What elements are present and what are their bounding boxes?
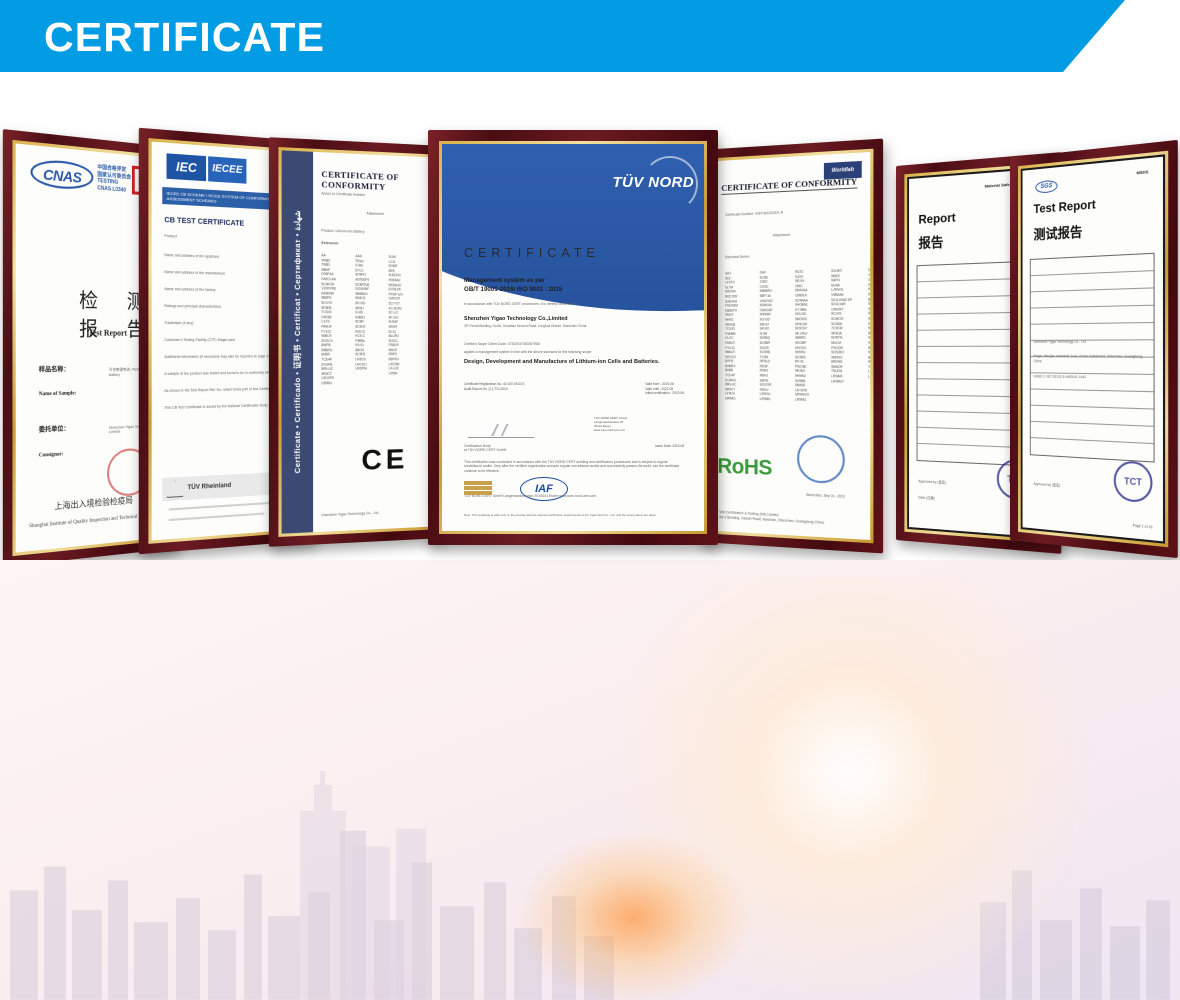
issuer-block: TÜV NORD CERT GmbHLangemarckstrasse 2045… bbox=[594, 416, 684, 432]
company-address: Pingxi, Wenjiao Industrial Zone, Futian … bbox=[1033, 354, 1152, 364]
cert-footer-cn: 上海出入境检验检疫局 bbox=[54, 494, 133, 512]
certificate-paper: Worldlab CERTIFICATE OF CONFORMITY Certi… bbox=[712, 152, 871, 540]
cb-field: Name and address of the factory bbox=[164, 287, 215, 292]
certificate-frame-sgs-report[interactable]: SGS MSDS Test Report 测试报告 bbox=[1010, 140, 1178, 558]
certificate-frame-rohs[interactable]: Worldlab CERTIFICATE OF CONFORMITY Certi… bbox=[700, 139, 883, 554]
certificate-page: CERTIFICATE CNAS 中国合格评定国家认可委员会TESTINGCNA… bbox=[0, 0, 1180, 1000]
report-title-en: Test Report bbox=[1033, 197, 1095, 216]
product-label-text: Product: bbox=[321, 229, 334, 233]
page-number: Page 1 of 16 bbox=[1133, 523, 1153, 530]
multilingual-side-band: Certificate • Certificado • 证明书 • Certif… bbox=[282, 150, 313, 533]
certificate-footnote: Note: This certificate is valid only on … bbox=[464, 513, 686, 517]
certification-scope: Design, Development and Manufacture of L… bbox=[464, 358, 686, 366]
product-label: Product bbox=[164, 234, 176, 239]
standard-line-1: Management system as per bbox=[464, 277, 545, 284]
tuv-certificate-title: CERTIFICATE bbox=[464, 246, 600, 260]
ce-mark-icon: CE bbox=[361, 443, 408, 477]
standard-line-2: GB/T 19001-2016/ ISO 9001 : 2015 bbox=[464, 286, 562, 293]
certificate-paper: Certificate • Certificado • 证明书 • Certif… bbox=[282, 150, 433, 533]
frame-gold-trim: SGS MSDS Test Report 测试报告 bbox=[1018, 151, 1168, 548]
client-code-label: Certified Scope Client Code: 47302037080… bbox=[464, 342, 540, 346]
models-label: Electrical Series bbox=[725, 255, 749, 260]
table-row bbox=[1031, 323, 1154, 341]
cert-number-label: Certificate Number: bbox=[725, 212, 754, 217]
report-title-cn: 测试报告 bbox=[1033, 221, 1082, 244]
certification-seal bbox=[797, 435, 845, 484]
certificate-paper: SGS MSDS Test Report 测试报告 bbox=[1021, 154, 1165, 543]
rohs-mark-icon: RoHS bbox=[717, 455, 772, 481]
cert-number-row: Certificate Number: VIST/AD/2019/1-R bbox=[725, 210, 783, 217]
cnas-logo-icon: CNAS bbox=[30, 158, 93, 191]
ce-certificate-title: CERTIFICATE OF CONFORMITY bbox=[321, 169, 432, 194]
cb-field: Customer's Testing Facility (CTF) Stage … bbox=[164, 338, 234, 342]
date-label: Date (日期) bbox=[918, 495, 934, 501]
contacts-line: TÜV NORD CERT GmbH Langemarckstrasse 20 … bbox=[464, 494, 686, 498]
approved-by-label: Approved by (签章) bbox=[1033, 481, 1060, 488]
lens-flare bbox=[519, 833, 749, 1000]
cert-number-label: Annex to Certificate Number bbox=[321, 191, 365, 197]
issuer-logo-text: TÜV Rheinland bbox=[187, 483, 231, 492]
tuv-standard-block: Management system as per GB/T 19001-2016… bbox=[464, 276, 562, 294]
conformity-title: CERTIFICATE OF CONFORMITY bbox=[721, 176, 857, 195]
issue-date: Issue Date: 2019-06 bbox=[655, 444, 684, 448]
frame-gold-trim: TÜV NORD CERTIFICATE Management system a… bbox=[439, 141, 707, 534]
cert-title-en: Test Report bbox=[88, 328, 127, 338]
sgs-logo-icon: SGS bbox=[1035, 180, 1057, 194]
attachment-label: Attachment bbox=[366, 211, 383, 216]
field-label-en-2: Consignor: bbox=[39, 452, 64, 459]
cb-field: Additional information (if necessary may… bbox=[164, 354, 269, 359]
cb-field: A sample of the product was tested and f… bbox=[164, 371, 271, 376]
models-label: Extension: bbox=[321, 241, 339, 246]
validity-note: This certification was conducted in acco… bbox=[464, 460, 686, 473]
validity-dates: Valid from : 2019-06 Valid until : 2022-… bbox=[645, 382, 684, 396]
cert-number-value: VIST/AD/2019/1-R bbox=[755, 210, 783, 215]
model-number-grid: AATR6DTB8DB8MFD05F4AFA5CLAA5C9KO9V10KV9B… bbox=[321, 253, 414, 386]
certificate-gallery: CNAS 中国合格评定国家认可委员会TESTINGCNAS L0340 CMA … bbox=[0, 130, 1180, 560]
registration-numbers: Certificate Registration No. 44 100 1943… bbox=[464, 382, 524, 391]
signature-label: Certification Body at TÜV NORD CERT GmbH bbox=[464, 444, 506, 452]
certificate-frame-tuv-nord[interactable]: TÜV NORD CERTIFICATE Management system a… bbox=[428, 130, 718, 545]
accordance-note: In accordance with TÜV NORD CERT procedu… bbox=[464, 302, 577, 306]
certificate-paper: TÜV NORD CERTIFICATE Management system a… bbox=[442, 144, 704, 531]
product-value: Lithium-ion Battery bbox=[336, 229, 365, 234]
cert-footer-en: Shanghai Institute of Quality Inspection… bbox=[29, 513, 155, 530]
signature-mark bbox=[468, 424, 534, 438]
cb-field: As shown in the Test Report Ref. No. whi… bbox=[164, 387, 274, 393]
dakks-logo-icon bbox=[464, 481, 492, 501]
frame-gold-trim: Worldlab CERTIFICATE OF CONFORMITY Certi… bbox=[709, 149, 874, 544]
standard-reference: UN38.3 / IEC 62133 & ANSI/UL 1642 bbox=[1033, 374, 1086, 379]
field-label-en-1: Name of Sample: bbox=[39, 392, 76, 398]
field-label-cn-1: 样品名称： bbox=[39, 364, 70, 374]
cb-field: Name and address of the manufacturer bbox=[164, 270, 225, 276]
issue-date-line: Shenzhen, Sep 01, 2019 bbox=[806, 492, 845, 498]
page-title: CERTIFICATE bbox=[44, 14, 325, 61]
model-number-grid: AAJ9LELF9TS9L7MN9OVAB0CJOR5J9GAOF9LRGMDB… bbox=[725, 267, 870, 404]
cb-field: Name and address of the applicant bbox=[164, 253, 219, 259]
ce-footer: Shenzhen Yigao Technology Co., Ltd. bbox=[321, 508, 424, 517]
cb-certificate-title: CB TEST CERTIFICATE bbox=[164, 217, 244, 228]
report-title-en: Report bbox=[918, 210, 955, 226]
report-title-cn: 报告 bbox=[918, 231, 943, 252]
side-band-text: Certificate • Certificado • 证明书 • Certif… bbox=[292, 210, 304, 473]
cnas-accreditation-text: 中国合格评定国家认可委员会TESTINGCNAS L0340 bbox=[97, 164, 131, 194]
certified-company-address: 3/F Fenda Building, No.66, Guanbao Secon… bbox=[464, 324, 586, 328]
company-name: Shenzhen Yigao Technology Co., Ltd bbox=[1033, 340, 1085, 345]
table-row bbox=[1031, 306, 1154, 325]
applies-note: applies a management system in line with… bbox=[464, 350, 591, 354]
trade-assurance-promo: $ Trade Assurance SECURITY GUARANTEED 10… bbox=[0, 560, 1180, 1000]
frame-gold-trim: Certificate • Certificado • 证明书 • Certif… bbox=[278, 147, 435, 537]
cb-field: Trademark (if any) bbox=[164, 321, 193, 325]
iaf-logo-icon: IAF bbox=[520, 477, 568, 501]
attachment-label: Attachment bbox=[773, 233, 790, 238]
iec-logo-icon: IECIECEE bbox=[167, 153, 247, 183]
rohs-footer: Vist Certification & Testing (SN) Limite… bbox=[719, 510, 861, 527]
cb-field: This CB Test Certificate is issued by th… bbox=[164, 403, 267, 410]
approved-by-label: Approved by (签章) bbox=[918, 479, 946, 485]
field-label-cn-2: 委托单位： bbox=[39, 424, 70, 435]
tuv-nord-logo: TÜV NORD bbox=[612, 174, 694, 191]
certificate-frame-ce[interactable]: Certificate • Certificado • 证明书 • Certif… bbox=[269, 137, 444, 547]
page-header: CERTIFICATE bbox=[0, 0, 1180, 76]
product-label: Product: Lithium-ion Battery bbox=[321, 229, 364, 235]
certified-company-name: Shenzhen Yigao Technology Co.,Limited bbox=[464, 316, 568, 322]
tct-seal-icon: TCT bbox=[1114, 460, 1153, 503]
msds-logo-icon: MSDS bbox=[1136, 169, 1148, 175]
cb-field: Ratings and principal characteristics bbox=[164, 304, 221, 309]
